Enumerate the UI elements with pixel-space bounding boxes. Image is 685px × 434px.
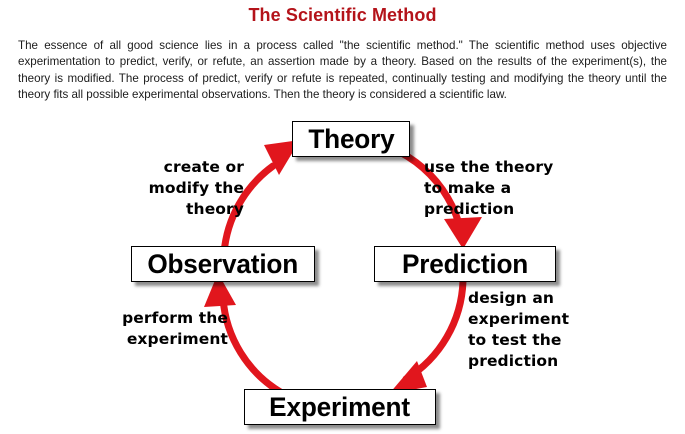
- edge-label-observation-to-theory: create or modify the theory: [114, 157, 244, 220]
- edge-label-prediction-to-experiment: design an experiment to test the predict…: [468, 288, 628, 372]
- node-prediction-label: Prediction: [402, 251, 528, 278]
- node-theory-label: Theory: [308, 126, 394, 153]
- edge-label-theory-to-prediction: use the theory to make a prediction: [424, 157, 584, 220]
- node-prediction[interactable]: Prediction: [374, 246, 556, 282]
- node-experiment-label: Experiment: [270, 394, 411, 421]
- arrowhead-to-prediction: [444, 217, 482, 249]
- scientific-method-cycle-diagram: Theory Prediction Experiment Observation…: [0, 113, 685, 434]
- node-theory[interactable]: Theory: [292, 121, 410, 157]
- node-observation-label: Observation: [148, 251, 299, 278]
- node-experiment[interactable]: Experiment: [244, 389, 436, 425]
- intro-paragraph: The essence of all good science lies in …: [18, 38, 667, 103]
- page-title: The Scientific Method: [0, 5, 685, 25]
- edge-label-experiment-to-observation: perform the experiment: [78, 308, 228, 350]
- node-observation[interactable]: Observation: [131, 246, 315, 282]
- arc-experiment-to-observation: [223, 298, 282, 393]
